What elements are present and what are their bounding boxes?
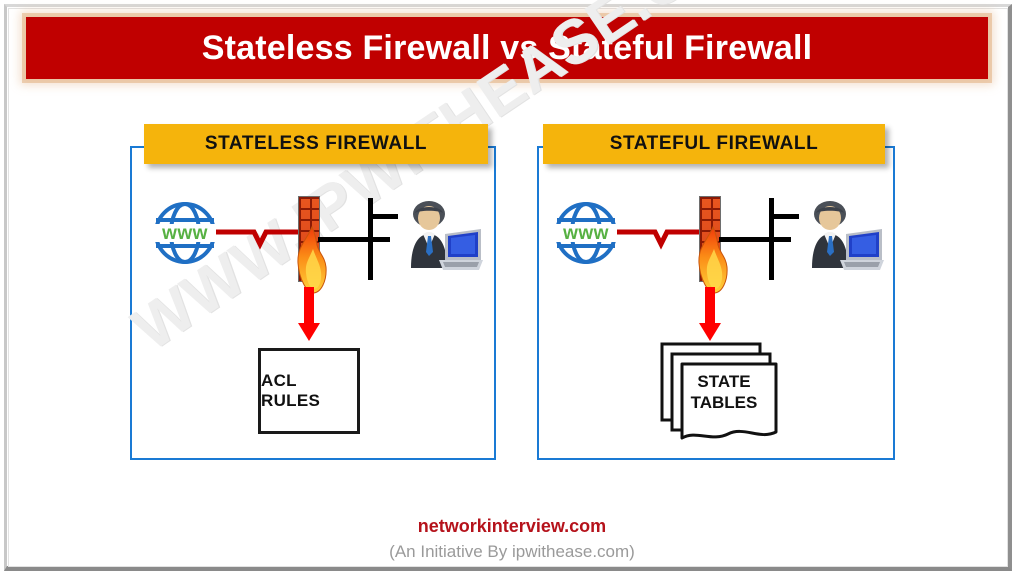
lan-trunk-line — [719, 237, 791, 242]
user-with-laptop-icon — [796, 196, 884, 279]
panel-header-stateless-label: STATELESS FIREWALL — [205, 133, 427, 155]
acl-rules-label: ACL RULES — [261, 371, 357, 411]
lan-stub-line — [368, 214, 398, 219]
panel-header-stateless: STATELESS FIREWALL — [144, 124, 488, 164]
state-tables-document-stack: STATE TABLES — [656, 340, 778, 444]
svg-text:www: www — [562, 223, 609, 244]
panel-header-stateful: STATEFUL FIREWALL — [543, 124, 885, 164]
lan-bus-line — [368, 198, 373, 280]
internet-link-line — [216, 218, 300, 263]
svg-text:www: www — [161, 223, 208, 244]
state-tables-label-line2: TABLES — [691, 392, 758, 413]
globe-www-icon: www — [553, 200, 619, 271]
state-tables-label-line1: STATE — [697, 371, 750, 392]
internet-link-line — [617, 218, 701, 263]
user-with-laptop-icon — [395, 196, 483, 279]
lan-trunk-line — [318, 237, 390, 242]
title-banner: Stateless Firewall vs Stateful Firewall — [26, 17, 988, 79]
diagram-canvas: Stateless Firewall vs Stateful Firewall … — [0, 0, 1024, 583]
page-title: Stateless Firewall vs Stateful Firewall — [202, 29, 813, 68]
down-arrow-icon — [296, 287, 322, 348]
down-arrow-icon — [697, 287, 723, 348]
state-tables-label: STATE TABLES — [656, 340, 778, 444]
lan-bus-line — [769, 198, 774, 280]
lan-stub-line — [769, 214, 799, 219]
footer-site: networkinterview.com — [0, 516, 1024, 537]
panel-header-stateful-label: STATEFUL FIREWALL — [610, 133, 819, 155]
acl-rules-box: ACL RULES — [258, 348, 360, 434]
globe-www-icon: www — [152, 200, 218, 271]
footer-tagline: (An Initiative By ipwithease.com) — [0, 542, 1024, 562]
